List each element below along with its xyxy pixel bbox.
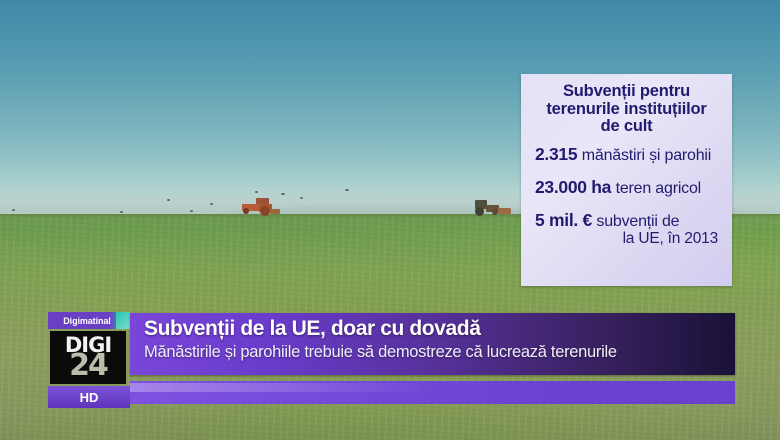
- info-box-title-line1: Subvenții pentru: [527, 83, 726, 101]
- info-box-row: 23.000 ha teren agricol: [535, 178, 732, 198]
- info-box: Subvenții pentru terenurile instituțiilo…: [521, 74, 732, 286]
- tractor-implement: [270, 209, 280, 214]
- info-box-row-value: 23.000 ha: [535, 177, 611, 197]
- tractor-wheel-rear: [260, 206, 270, 216]
- info-box-row-unit: mănăstiri și parohii: [582, 147, 711, 164]
- info-box-row-unit: teren agricol: [616, 180, 701, 197]
- tractor-wheel-front: [243, 208, 249, 214]
- lower-third-bar-highlight: [130, 383, 430, 392]
- channel-logo-number: 24: [50, 351, 126, 381]
- broadcast-screenshot: Subvenții pentru terenurile instituțiilo…: [0, 0, 780, 440]
- hd-badge: HD: [48, 386, 130, 408]
- teal-accent-block: [116, 312, 130, 329]
- info-box-row-unit: subvenții de: [596, 213, 679, 230]
- tractor-right: [473, 200, 511, 216]
- tractor-wheel-rear: [475, 207, 484, 216]
- info-box-title-line2: terenurile instituțiilor: [527, 101, 726, 119]
- info-box-row: 2.315 mănăstiri și parohii: [535, 145, 732, 165]
- info-box-row: 5 mil. € subvenții de la UE, în 2013: [535, 211, 732, 248]
- headline-text: Subvenții de la UE, doar cu dovadă: [144, 317, 480, 341]
- info-box-row-value: 5 mil. €: [535, 210, 592, 230]
- tractor-implement: [498, 208, 511, 214]
- programme-tag: Digimatinal: [48, 312, 126, 329]
- subtitle-text: Mănăstirile și parohiile trebuie să demo…: [144, 343, 617, 362]
- info-box-title: Subvenții pentru terenurile instituțiilo…: [521, 74, 732, 136]
- info-box-row-unit-second-line: la UE, în 2013: [535, 230, 732, 248]
- info-box-row-value: 2.315: [535, 144, 577, 164]
- lower-third-banner: Subvenții de la UE, doar cu dovadă Mănăs…: [130, 313, 735, 375]
- info-box-rows: 2.315 mănăstiri și parohii 23.000 ha ter…: [521, 136, 732, 248]
- tractor-left: [240, 198, 280, 216]
- channel-logo: DIGI 24: [50, 331, 126, 384]
- info-box-title-line3: de cult: [527, 118, 726, 136]
